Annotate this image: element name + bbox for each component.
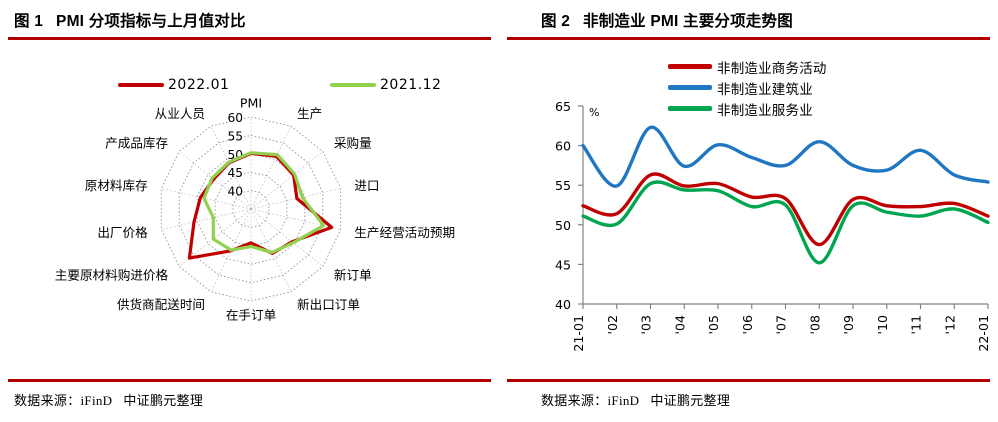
y-axis-tick-label: 60: [555, 139, 571, 154]
figure-2-title: 图 2非制造业 PMI 主要分项走势图: [541, 9, 793, 31]
figures-page: 图 1PMI 分项指标与上月值对比 2022.01 2021.12 404550…: [0, 0, 998, 422]
radar-legend-swatch-2021: [330, 83, 376, 87]
line-chart-svg: 404550556065%21-01'02'03'04'05'06'07'08'…: [499, 96, 998, 382]
x-axis-tick-label: 22-01: [976, 315, 991, 352]
radar-legend-item-2022: 2022.01: [118, 74, 229, 96]
figure-2-number: 图 2: [541, 13, 570, 30]
figure-1-bottom-divider: [8, 379, 491, 382]
x-axis-tick-label: '09: [841, 315, 856, 335]
line-legend-swatch-business: [668, 64, 712, 69]
radar-tick-label: 60: [227, 111, 243, 125]
line-series-非制造业服务业: [583, 182, 988, 263]
x-axis-tick-label: '11: [909, 315, 924, 335]
line-legend-item-business: 非制造业商务活动: [668, 56, 968, 77]
y-axis-tick-label: 55: [555, 178, 571, 193]
radar-axis-label: 原材料库存: [85, 178, 148, 193]
figure-2-source-text: 数据来源：iFinD: [541, 393, 639, 408]
figure-1-title: 图 1PMI 分项指标与上月值对比: [14, 9, 246, 31]
radar-axis-label: 生产经营活动预期: [354, 225, 455, 240]
x-axis-tick-label: '04: [672, 315, 687, 335]
figure-1-title-text: PMI 分项指标与上月值对比: [56, 13, 246, 30]
y-axis-tick-label: 40: [555, 297, 571, 312]
x-axis-tick-label: '10: [875, 315, 890, 335]
radar-legend-label-2022: 2022.01: [168, 77, 229, 93]
figure-1-source: 数据来源：iFinD中证鹏元整理: [14, 390, 203, 409]
line-legend-item-construction: 非制造业建筑业: [668, 77, 968, 98]
radar-axis-label: 主要原材料购进价格: [55, 268, 169, 283]
radar-tick-label: 40: [227, 185, 243, 199]
figure-2-source: 数据来源：iFinD中证鹏元整理: [541, 390, 730, 409]
figure-2-title-text: 非制造业 PMI 主要分项走势图: [583, 13, 793, 30]
radar-legend-item-2021: 2021.12: [330, 74, 441, 96]
figure-1-top-divider: [8, 37, 491, 40]
x-axis-tick-label: '02: [605, 315, 620, 335]
x-axis-tick-label: '06: [740, 315, 755, 335]
radar-axis-label: 在手订单: [226, 308, 276, 323]
y-axis-tick-label: 65: [555, 99, 571, 114]
x-axis-tick-label: '07: [774, 315, 789, 335]
radar-tick-label: 45: [227, 166, 243, 180]
radar-tick-label: 55: [227, 129, 243, 143]
x-axis-tick-label: 21-01: [571, 315, 586, 352]
line-series-非制造业商务活动: [583, 174, 988, 245]
x-axis-tick-label: '05: [706, 315, 721, 335]
figure-1-number: 图 1: [14, 13, 43, 30]
y-axis-tick-label: 45: [555, 257, 571, 272]
x-axis-tick-label: '08: [807, 315, 822, 335]
radar-axis-label: 供货商配送时间: [117, 297, 205, 312]
line-legend-label-construction: 非制造业建筑业: [717, 78, 813, 98]
radar-axis-label: 新订单: [334, 268, 372, 283]
radar-axis-label: 出厂价格: [97, 225, 148, 240]
line-legend-swatch-construction: [668, 85, 712, 90]
y-axis-unit-label: %: [589, 106, 599, 119]
x-axis-tick-label: '12: [942, 315, 957, 335]
radar-chart-svg: 4045505560PMI生产采购量进口生产经营活动预期新订单新出口订单在手订单…: [0, 96, 499, 358]
radar-axis-label: 产成品库存: [105, 135, 168, 150]
figure-1-source-text: 数据来源：iFinD: [14, 393, 112, 408]
figure-2-top-divider: [507, 37, 990, 40]
radar-axis-label: 进口: [354, 178, 379, 193]
radar-chart: 4045505560PMI生产采购量进口生产经营活动预期新订单新出口订单在手订单…: [0, 96, 499, 358]
x-axis-tick-label: '03: [639, 315, 654, 335]
line-series-非制造业建筑业: [583, 127, 988, 186]
radar-axis-label: 生产: [297, 106, 322, 121]
figure-1-source-extra: 中证鹏元整理: [123, 393, 203, 408]
radar-legend-label-2021: 2021.12: [380, 77, 441, 93]
radar-legend: 2022.01 2021.12: [0, 74, 499, 96]
figure-2-source-extra: 中证鹏元整理: [650, 393, 730, 408]
radar-axis-label: 从业人员: [155, 106, 205, 121]
figure-1-panel: 图 1PMI 分项指标与上月值对比 2022.01 2021.12 404550…: [0, 0, 499, 422]
line-legend-label-business: 非制造业商务活动: [717, 57, 827, 77]
radar-axis-label: 采购量: [334, 135, 372, 150]
y-axis-tick-label: 50: [555, 218, 571, 233]
radar-axis-label: PMI: [240, 96, 262, 111]
radar-legend-swatch-2022: [118, 83, 164, 87]
line-chart: 404550556065%21-01'02'03'04'05'06'07'08'…: [499, 96, 998, 382]
radar-axis-label: 新出口订单: [297, 297, 360, 312]
